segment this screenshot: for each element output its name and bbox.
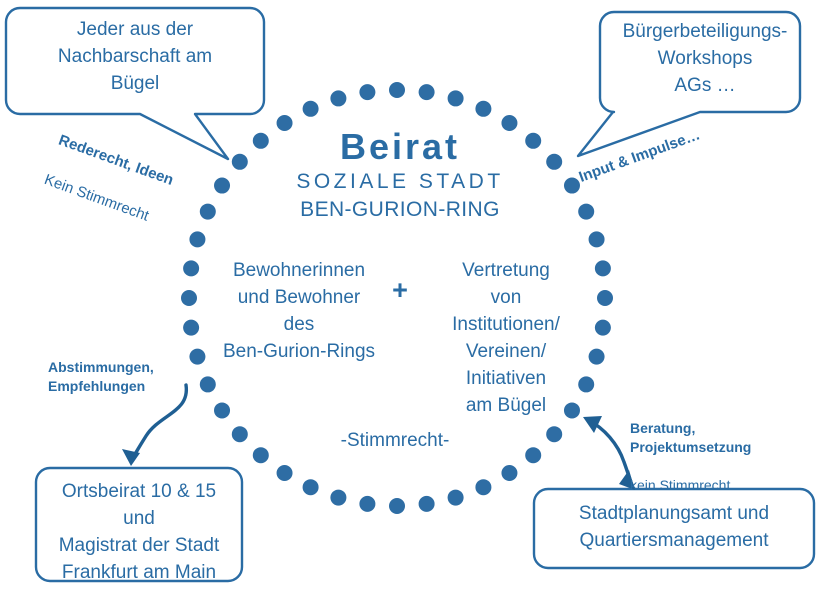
annotation-beratung-bold: Beratung, Projektumsetzung — [630, 419, 800, 457]
ring-footer-stimmrecht: -Stimmrecht- — [300, 428, 490, 454]
ring-dot — [214, 402, 230, 418]
ring-dot — [200, 376, 216, 392]
arrow-abstimmungen — [122, 385, 186, 466]
ring-dot — [419, 496, 435, 512]
ring-dot — [501, 465, 517, 481]
ring-column-institutions: Vertretung von Institutionen/ Vereinen/ … — [420, 257, 592, 419]
ring-dot — [448, 90, 464, 106]
annotation-beratung: Beratung, Projektumsetzung kein Stimmrec… — [630, 400, 800, 514]
ring-dot — [475, 479, 491, 495]
ring-dot — [448, 490, 464, 506]
ring-dot — [389, 82, 405, 98]
ring-dot — [253, 447, 269, 463]
page-subtitle-secondary: BEN-GURION-RING — [230, 196, 570, 223]
page-subtitle: SOZIALE STADT — [230, 168, 570, 196]
ring-title-block: Beirat SOZIALE STADT BEN-GURION-RING — [230, 126, 570, 223]
box-bottom-left[interactable] — [36, 468, 242, 581]
arrow-beratung — [583, 416, 635, 490]
diagram-canvas: Jeder aus der Nachbarschaft am Bügel Bür… — [0, 0, 820, 600]
ring-dot — [303, 101, 319, 117]
ring-dot — [359, 496, 375, 512]
ring-dot — [330, 90, 346, 106]
ring-dot — [525, 447, 541, 463]
ring-dot — [546, 426, 562, 442]
page-title: Beirat — [230, 126, 570, 168]
ring-dot — [330, 490, 346, 506]
ring-dot — [578, 204, 594, 220]
annotation-beratung-regular: kein Stimmrecht — [630, 476, 800, 495]
ring-dot — [419, 84, 435, 100]
ring-dot — [232, 426, 248, 442]
plus-icon: + — [386, 276, 414, 304]
ring-dot — [589, 231, 605, 247]
ring-dot — [359, 84, 375, 100]
annotation-abstimmungen: Abstimmungen, Empfehlungen — [48, 358, 198, 396]
ring-dot — [277, 465, 293, 481]
ring-dot — [389, 498, 405, 514]
ring-dot — [597, 290, 613, 306]
ring-dot — [181, 290, 197, 306]
ring-dot — [475, 101, 491, 117]
ring-column-residents: Bewohnerinnen und Bewohner des Ben-Gurio… — [205, 257, 393, 365]
ring-dot — [595, 260, 611, 276]
ring-dot — [303, 479, 319, 495]
ring-dot — [183, 320, 199, 336]
ring-dot — [595, 320, 611, 336]
